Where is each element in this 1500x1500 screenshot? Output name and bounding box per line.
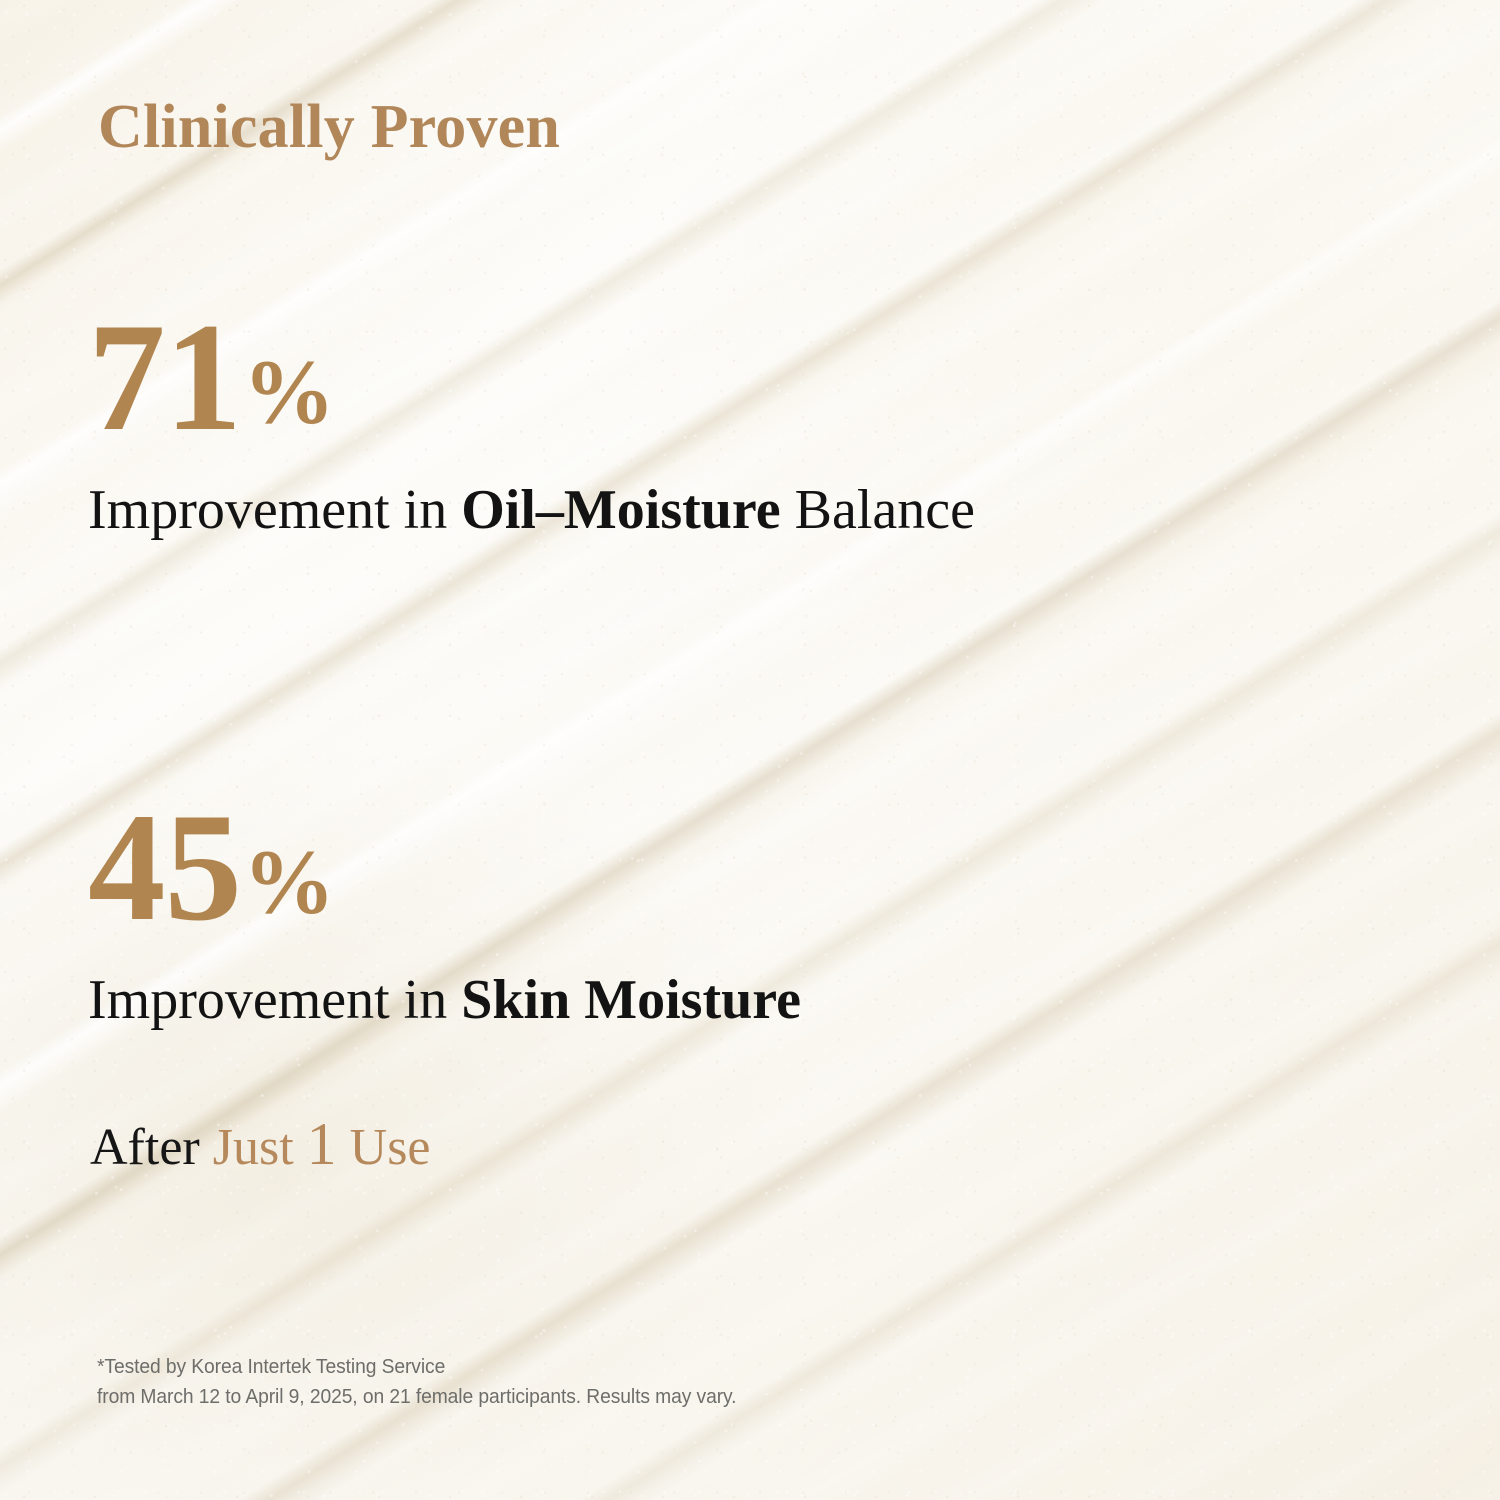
- usage-claim-prefix: After: [90, 1119, 213, 1176]
- usage-claim-use: Use: [337, 1119, 431, 1176]
- stat-block-oil-moisture-balance: 71% Improvement in Oil–Moisture Balance: [88, 300, 975, 549]
- footnote-line-2: from March 12 to April 9, 2025, on 21 fe…: [97, 1382, 736, 1412]
- usage-claim-count: 1: [307, 1111, 337, 1177]
- stat-value-45: 45%: [88, 790, 801, 945]
- stat-desc-prefix: Improvement in: [88, 479, 461, 541]
- footnote-line-1: *Tested by Korea Intertek Testing Servic…: [97, 1352, 736, 1382]
- stat-description-oil-moisture-balance: Improvement in Oil–Moisture Balance: [88, 473, 975, 549]
- clinical-results-card: Clinically Proven 71% Improvement in Oil…: [0, 0, 1500, 1500]
- stat-number: 71: [88, 291, 241, 463]
- content-layer: Clinically Proven 71% Improvement in Oil…: [0, 0, 1500, 1500]
- disclaimer-footnote: *Tested by Korea Intertek Testing Servic…: [97, 1352, 736, 1411]
- usage-claim: After Just 1 Use: [90, 1110, 431, 1179]
- stat-number: 45: [88, 781, 241, 953]
- stat-desc-emphasis: Skin Moisture: [461, 969, 801, 1031]
- usage-claim-just: Just: [213, 1119, 307, 1176]
- stat-value-71: 71%: [88, 300, 975, 455]
- page-title: Clinically Proven: [98, 95, 560, 160]
- stat-desc-emphasis: Oil–Moisture: [461, 479, 780, 541]
- percent-sign: %: [243, 831, 335, 933]
- stat-block-skin-moisture: 45% Improvement in Skin Moisture: [88, 790, 801, 1039]
- stat-desc-suffix: Balance: [781, 479, 975, 541]
- stat-description-skin-moisture: Improvement in Skin Moisture: [88, 963, 801, 1039]
- stat-desc-prefix: Improvement in: [88, 969, 461, 1031]
- percent-sign: %: [243, 341, 335, 443]
